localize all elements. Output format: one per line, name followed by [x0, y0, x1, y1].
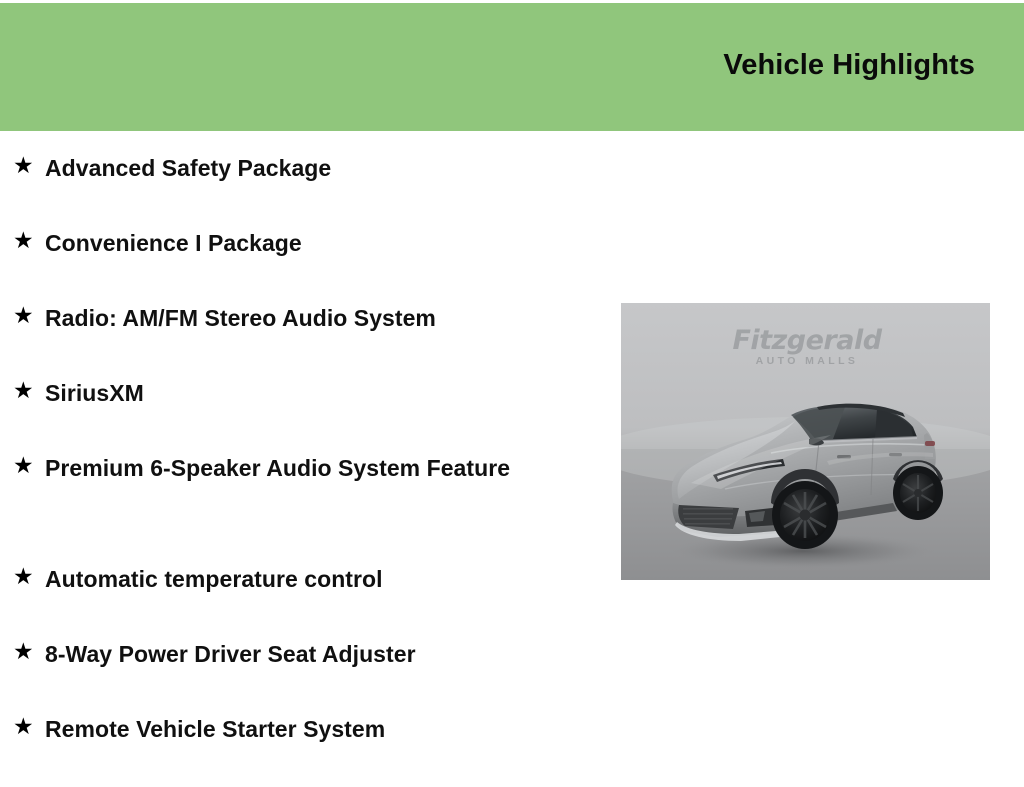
front-wheel [772, 481, 838, 549]
watermark-main-text: Fitzgerald [732, 325, 882, 356]
vehicle-photo: Fitzgerald AUTO MALLS [621, 303, 990, 580]
list-item: ★ Remote Vehicle Starter System [0, 712, 620, 787]
list-item: ★ Convenience I Package [0, 226, 620, 301]
star-bullet-icon: ★ [13, 451, 45, 480]
list-item-label: Remote Vehicle Starter System [45, 712, 565, 746]
list-item: ★ SiriusXM [0, 376, 620, 451]
list-item: ★ Advanced Safety Package [0, 131, 620, 226]
list-item-label: Automatic temperature control [45, 562, 565, 596]
star-bullet-icon: ★ [13, 637, 45, 666]
star-bullet-icon: ★ [13, 562, 45, 591]
list-item-label: Radio: AM/FM Stereo Audio System [45, 301, 565, 335]
list-item-label: Premium 6-Speaker Audio System Feature [45, 451, 565, 485]
list-item-label: SiriusXM [45, 376, 565, 410]
vehicle-photo-image: Fitzgerald AUTO MALLS [621, 303, 990, 580]
header-band: Vehicle Highlights [0, 3, 1024, 131]
star-bullet-icon: ★ [13, 712, 45, 741]
list-item: ★ Radio: AM/FM Stereo Audio System [0, 301, 620, 376]
star-bullet-icon: ★ [13, 151, 45, 180]
list-item: ★ 8-Way Power Driver Seat Adjuster [0, 637, 620, 712]
list-item: ★ Premium 6-Speaker Audio System Feature [0, 451, 620, 526]
list-item-label: Advanced Safety Package [45, 151, 565, 185]
list-item-label: 8-Way Power Driver Seat Adjuster [45, 637, 565, 671]
list-item-label: Convenience I Package [45, 226, 565, 260]
star-bullet-icon: ★ [13, 301, 45, 330]
watermark-sub-text: AUTO MALLS [756, 355, 859, 367]
page-title: Vehicle Highlights [723, 51, 975, 80]
rear-wheel [893, 466, 943, 520]
list-item: ★ Automatic temperature control [0, 562, 620, 637]
star-bullet-icon: ★ [13, 376, 45, 405]
vehicle-highlights-list: ★ Advanced Safety Package ★ Convenience … [0, 131, 620, 787]
star-bullet-icon: ★ [13, 226, 45, 255]
